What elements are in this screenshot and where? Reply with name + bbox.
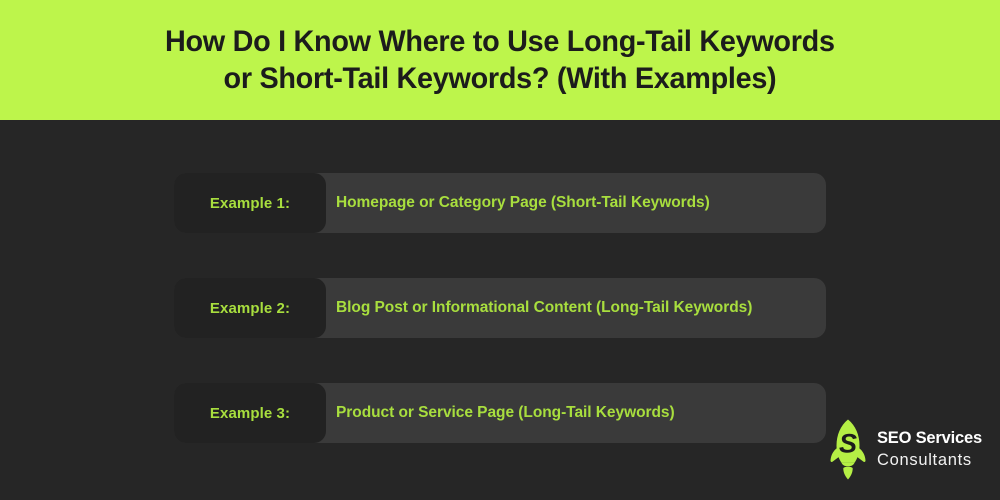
example-description-1: Homepage or Category Page (Short-Tail Ke…: [326, 194, 826, 212]
example-tag-label: Example 1:: [210, 195, 290, 212]
example-description-2: Blog Post or Informational Content (Long…: [326, 299, 826, 317]
example-tag-1: Example 1:: [174, 173, 326, 233]
logo-line-secondary: Consultants: [877, 452, 982, 469]
example-tag-3: Example 3:: [174, 383, 326, 443]
logo-line-primary: SEO Services: [877, 430, 982, 447]
brand-logo: S SEO Services Consultants: [828, 418, 982, 480]
example-row: Example 2: Blog Post or Informational Co…: [174, 278, 826, 338]
example-tag-2: Example 2:: [174, 278, 326, 338]
example-tag-label: Example 3:: [210, 405, 290, 422]
header-banner: How Do I Know Where to Use Long-Tail Key…: [0, 0, 1000, 120]
rocket-letter-s: S: [839, 429, 857, 459]
example-tag-label: Example 2:: [210, 300, 290, 317]
rocket-icon: S: [828, 418, 868, 480]
logo-wordmark: SEO Services Consultants: [877, 430, 982, 468]
example-row: Example 3: Product or Service Page (Long…: [174, 383, 826, 443]
example-description-3: Product or Service Page (Long-Tail Keywo…: [326, 404, 826, 422]
example-row: Example 1: Homepage or Category Page (Sh…: [174, 173, 826, 233]
page-title-line-2: or Short-Tail Keywords? (With Examples): [224, 60, 777, 97]
page-title-line-1: How Do I Know Where to Use Long-Tail Key…: [165, 23, 835, 60]
